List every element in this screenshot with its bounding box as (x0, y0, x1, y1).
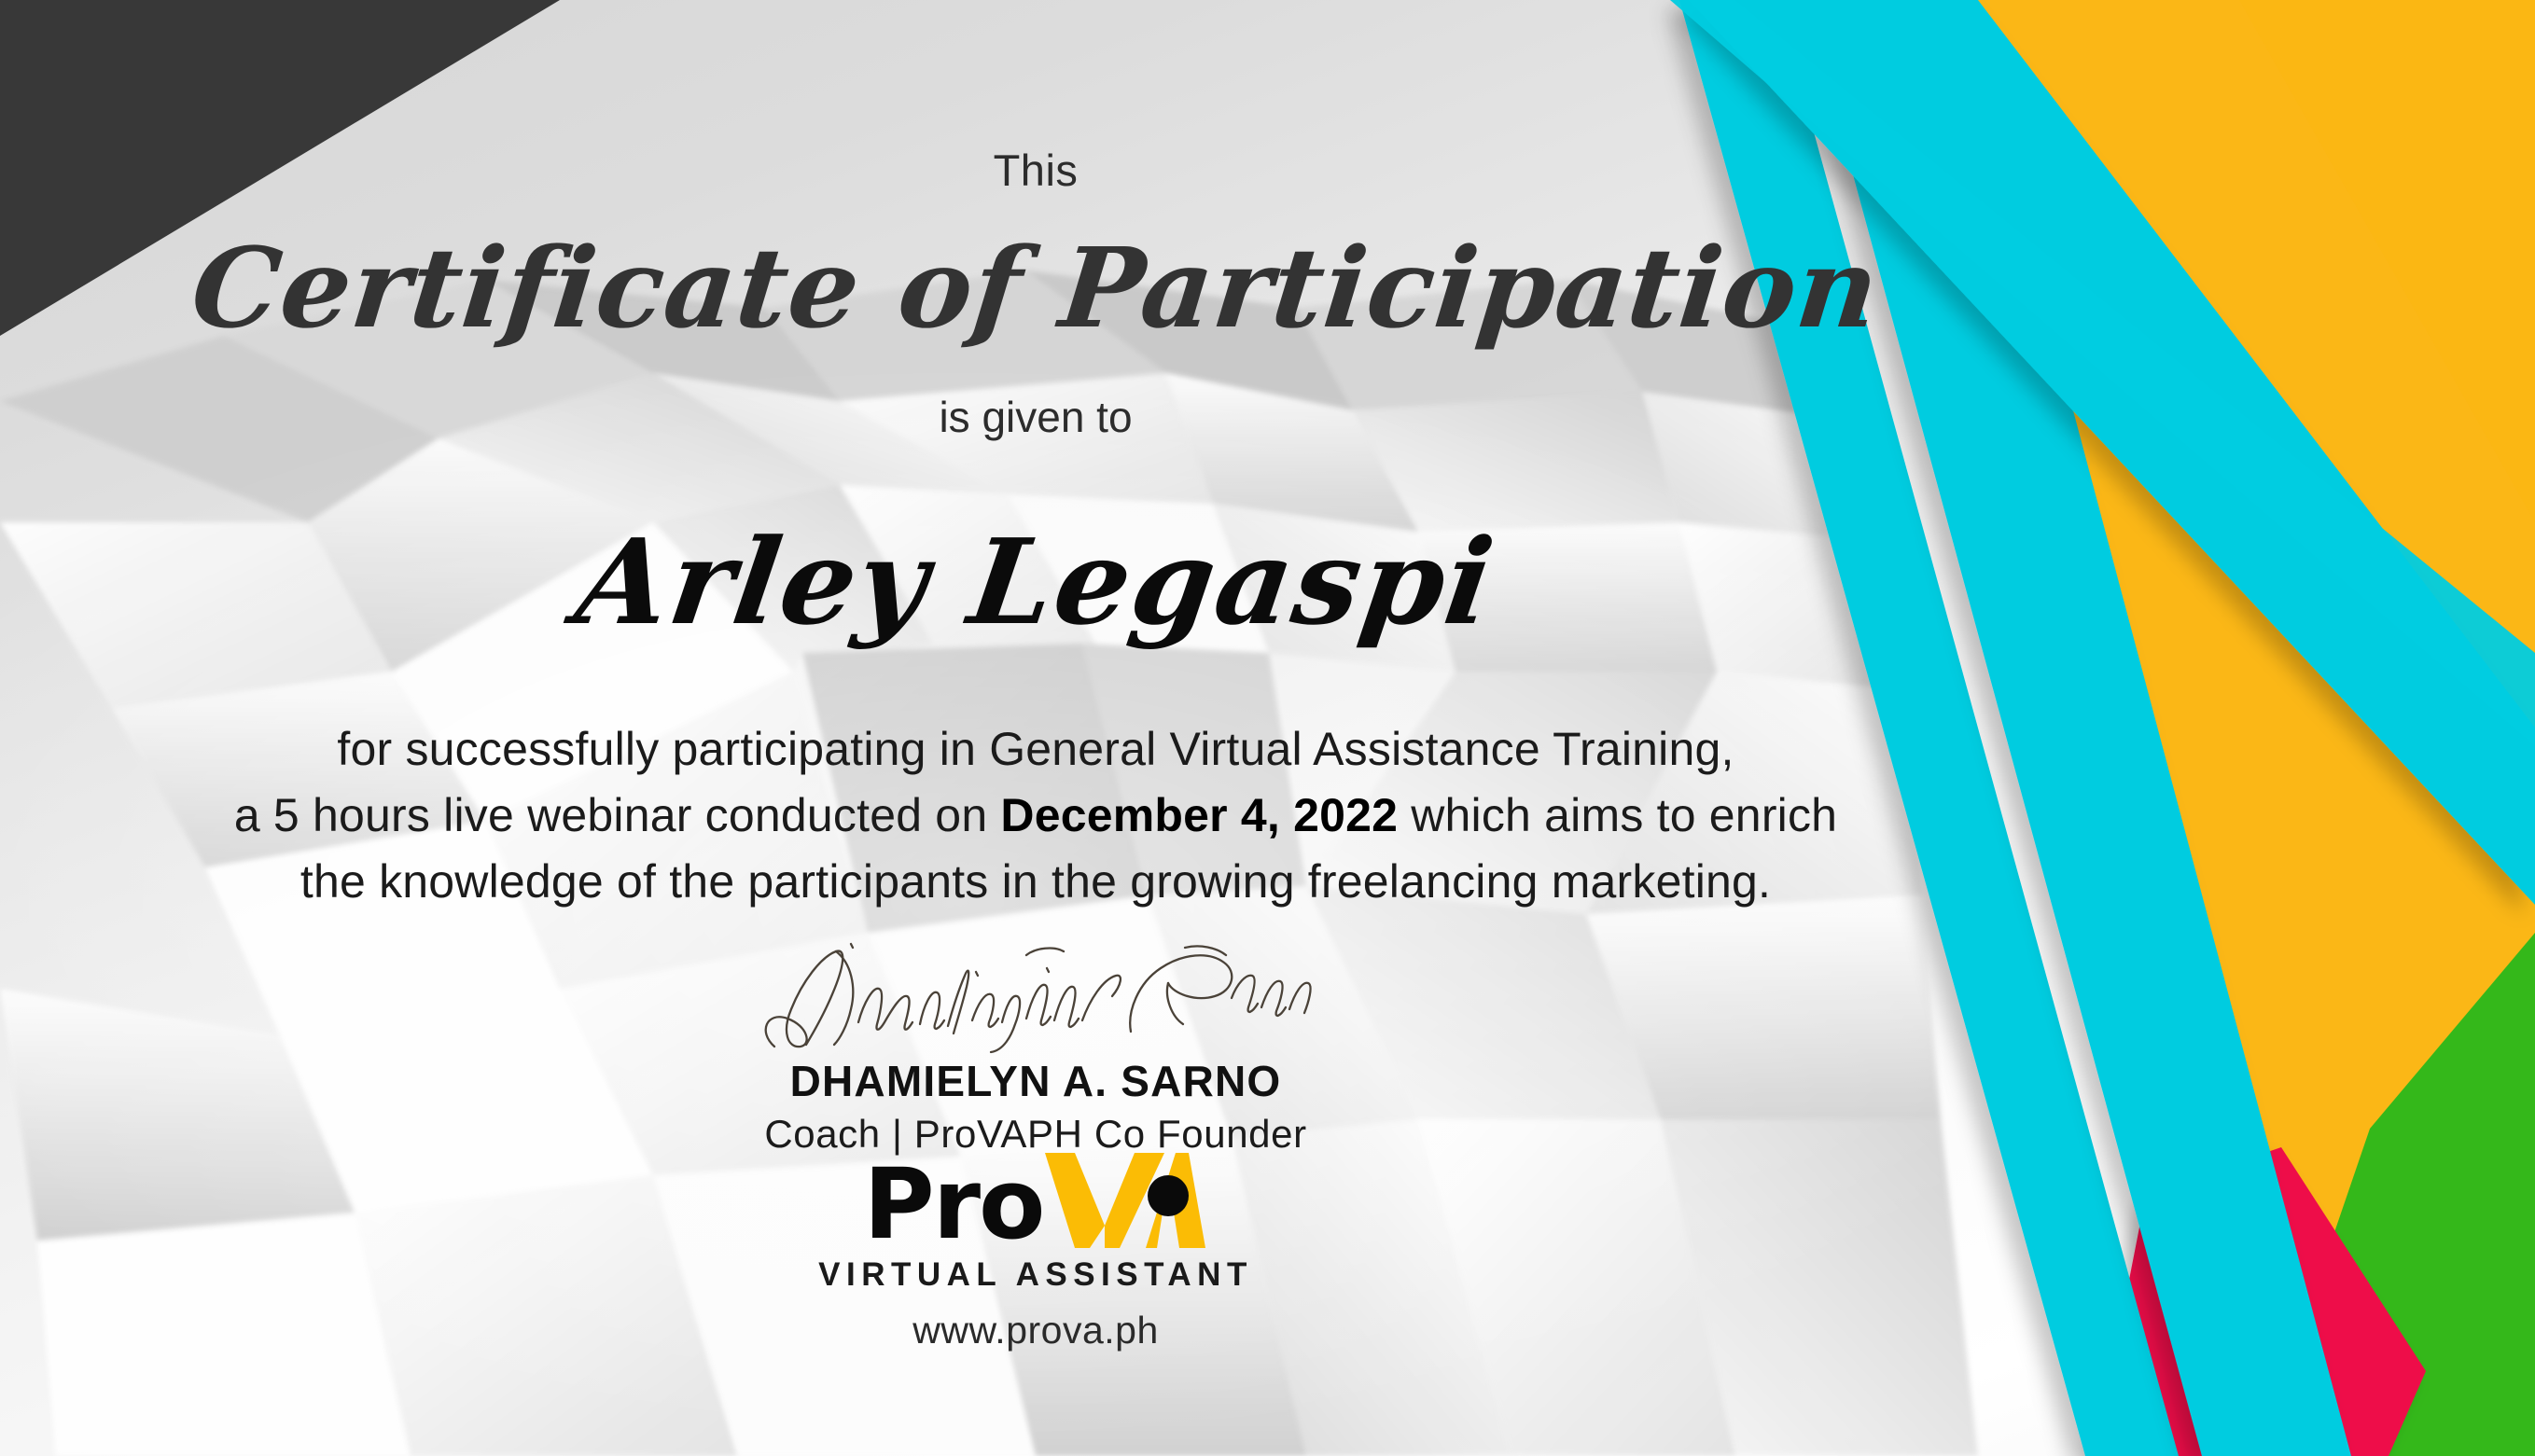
body-line-1: for successfully participating in Genera… (37, 716, 2034, 783)
prova-logo: Pro VIRTUAL ASSISTANT www.prova.ph (0, 1161, 2071, 1352)
body-line-3: the knowledge of the participants in the… (37, 849, 2034, 915)
logo-va-mark (1043, 1151, 1207, 1251)
body-line-2-pre: a 5 hours live webinar conducted on (234, 789, 1001, 841)
logo-website: www.prova.ph (0, 1309, 2071, 1352)
certificate-body: for successfully participating in Genera… (37, 716, 2034, 915)
logo-text-pro: Pro (864, 1158, 1044, 1251)
body-line-2: a 5 hours live webinar conducted on Dece… (37, 783, 2034, 849)
given-to-label: is given to (0, 392, 2071, 442)
recipient-name: Arley Legaspi (0, 513, 2081, 651)
intro-text: This (0, 145, 2071, 196)
certificate-content: This Certificate of Participation is giv… (0, 0, 2071, 1456)
logo-va-icon (1043, 1151, 1207, 1248)
signature-block: DHAMIELYN A. SARNO Coach | ProVAPH Co Fo… (0, 942, 2071, 1157)
body-line-2-post: which aims to enrich (1398, 789, 1837, 841)
certificate-canvas: This Certificate of Participation is giv… (0, 0, 2535, 1456)
handwritten-signature-icon (746, 942, 1325, 1054)
logo-tagline: VIRTUAL ASSISTANT (0, 1256, 2071, 1294)
signatory-name: DHAMIELYN A. SARNO (0, 1056, 2071, 1106)
certificate-title: Certificate of Participation (0, 229, 2078, 347)
signature-image (0, 942, 2071, 1054)
webinar-date: December 4, 2022 (1000, 789, 1398, 841)
logo-wordmark: Pro (0, 1161, 2071, 1251)
